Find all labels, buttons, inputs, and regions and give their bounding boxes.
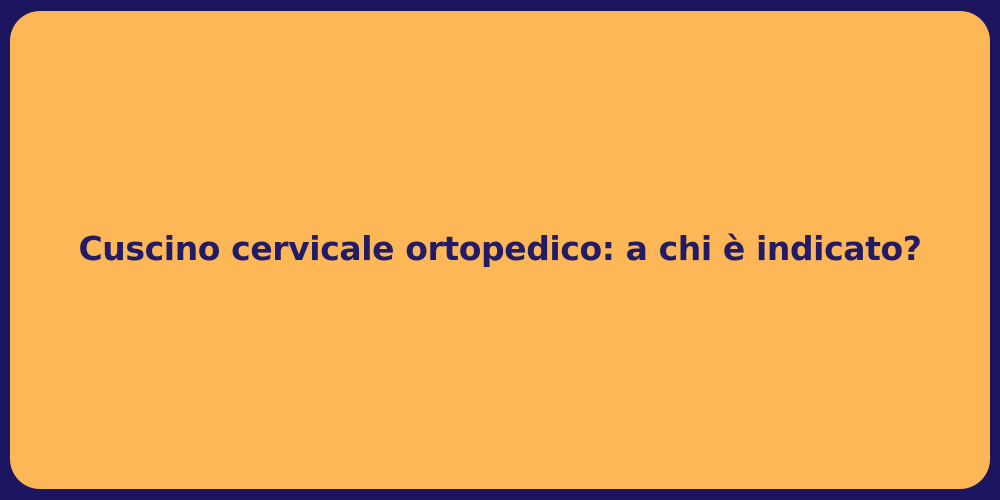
hero-banner-card: Cuscino cervicale ortopedico: a chi è in… xyxy=(10,11,990,489)
hero-title: Cuscino cervicale ortopedico: a chi è in… xyxy=(38,228,961,269)
page-canvas: Cuscino cervicale ortopedico: a chi è in… xyxy=(0,0,1000,500)
